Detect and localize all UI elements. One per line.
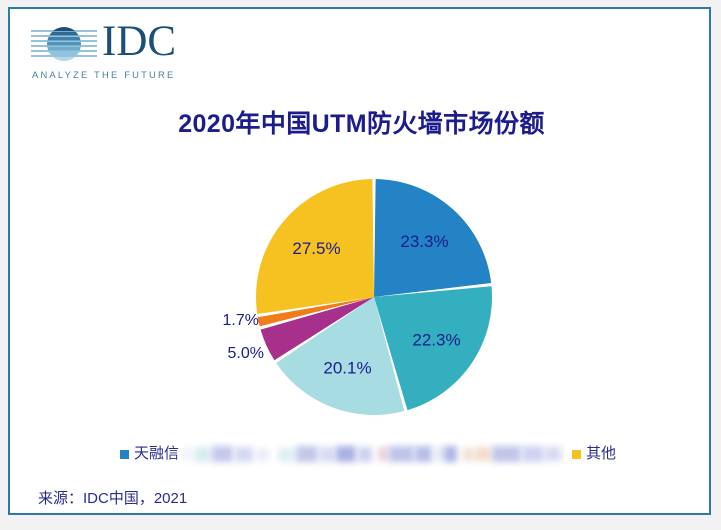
legend-redacted-block [358, 447, 372, 462]
pie-chart: 23.3%22.3%20.1%5.0%1.7%27.5% [10, 159, 713, 429]
legend-redacted-block [434, 447, 444, 461]
legend-redacted-block [378, 447, 389, 461]
logo-tagline: ANALYZE THE FUTURE [32, 69, 175, 80]
idc-logo: IDC ANALYZE THE FUTURE [30, 21, 210, 83]
legend-redacted-block [319, 447, 335, 462]
legend-redacted-block [336, 446, 356, 462]
legend-redacted-block [256, 449, 269, 461]
report-card: IDC ANALYZE THE FUTURE 2020年中国UTM防火墙市场份额… [8, 7, 711, 515]
pie-slice-value-label: 1.7% [223, 312, 259, 329]
logo-wordmark: IDC [102, 18, 176, 66]
legend-redacted-block [195, 447, 211, 462]
legend-redacted-block [475, 447, 491, 461]
striped-globe-icon [30, 23, 98, 67]
legend-label: 其他 [586, 445, 616, 463]
chart-legend: 天融信 其他 [10, 441, 713, 471]
legend-item-tianrongxin[interactable]: 天融信 [120, 445, 179, 463]
pie-slice-value-label: 5.0% [228, 345, 264, 362]
legend-swatch [120, 450, 129, 459]
legend-redacted-block [462, 448, 475, 461]
legend-redacted-block [278, 448, 295, 462]
legend-swatch [572, 450, 581, 459]
legend-item-other[interactable]: 其他 [572, 445, 616, 463]
pie-slice-value-label: 20.1% [323, 359, 371, 378]
legend-redacted-block [545, 447, 561, 461]
legend-redacted-block [389, 446, 413, 462]
pie-slices [256, 179, 492, 415]
pie-chart-svg: 23.3%22.3%20.1%5.0%1.7%27.5% [10, 159, 713, 429]
legend-redacted-block [492, 446, 521, 462]
legend-redacted-block [415, 446, 432, 462]
pie-slice-value-label: 22.3% [412, 330, 460, 349]
pie-slice-value-label: 23.3% [400, 232, 448, 251]
pie-slice-value-label: 27.5% [292, 239, 340, 258]
legend-redacted-block [562, 448, 564, 461]
legend-redacted-entries [182, 441, 564, 469]
legend-redacted-block [296, 446, 317, 462]
legend-redacted-block [444, 446, 457, 462]
legend-redacted-block [183, 448, 193, 461]
legend-redacted-block [212, 446, 233, 462]
legend-redacted-block [235, 447, 254, 462]
legend-label: 天融信 [134, 445, 179, 463]
page-title: 2020年中国UTM防火墙市场份额 [10, 104, 713, 140]
source-note: 来源：IDC中国，2021 [38, 487, 187, 508]
legend-redacted-block [522, 446, 543, 462]
